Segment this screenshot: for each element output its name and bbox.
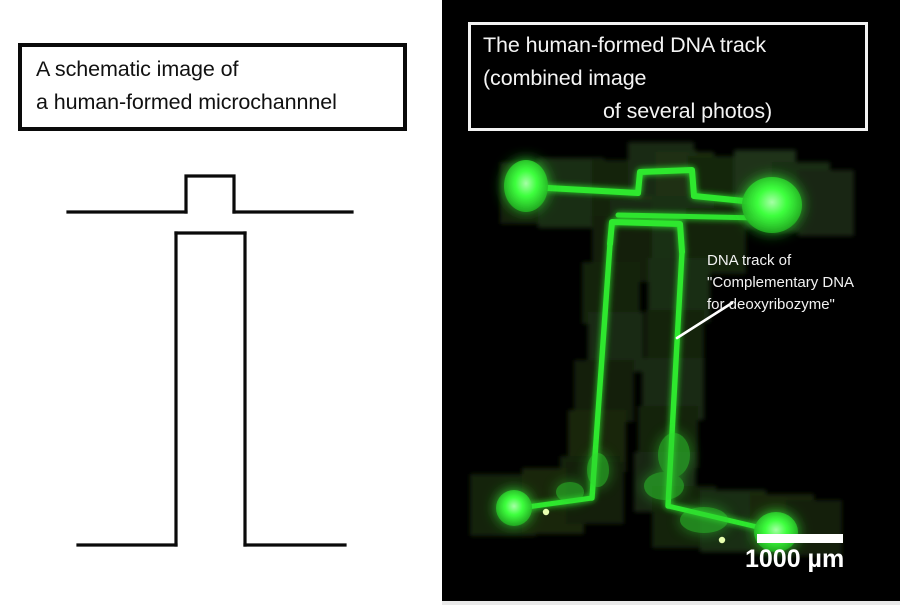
left-caption-line-2: a human-formed microchannnel bbox=[36, 86, 403, 119]
scale-bar-label: 1000 µm bbox=[745, 545, 844, 573]
left-caption-box: A schematic image of a human-formed micr… bbox=[18, 43, 407, 131]
right-panel-fluorescence: DNA track of "Complementary DNA for deox… bbox=[442, 0, 900, 605]
annotation-line-2: "Complementary DNA bbox=[707, 272, 854, 294]
figure-root: A schematic image of a human-formed micr… bbox=[0, 0, 900, 605]
scale-bar: 1000 µm bbox=[745, 534, 844, 573]
annotation-line-1: DNA track of bbox=[707, 250, 854, 272]
annotation-text-block: DNA track of "Complementary DNA for deox… bbox=[707, 250, 854, 316]
schematic-head bbox=[186, 176, 234, 212]
left-panel-schematic: A schematic image of a human-formed micr… bbox=[0, 0, 442, 605]
left-caption-line-1: A schematic image of bbox=[36, 53, 403, 86]
bottom-edge-strip bbox=[442, 601, 900, 605]
annotation-line-3: for deoxyribozyme" bbox=[707, 294, 854, 316]
scale-bar-rule bbox=[757, 534, 843, 543]
